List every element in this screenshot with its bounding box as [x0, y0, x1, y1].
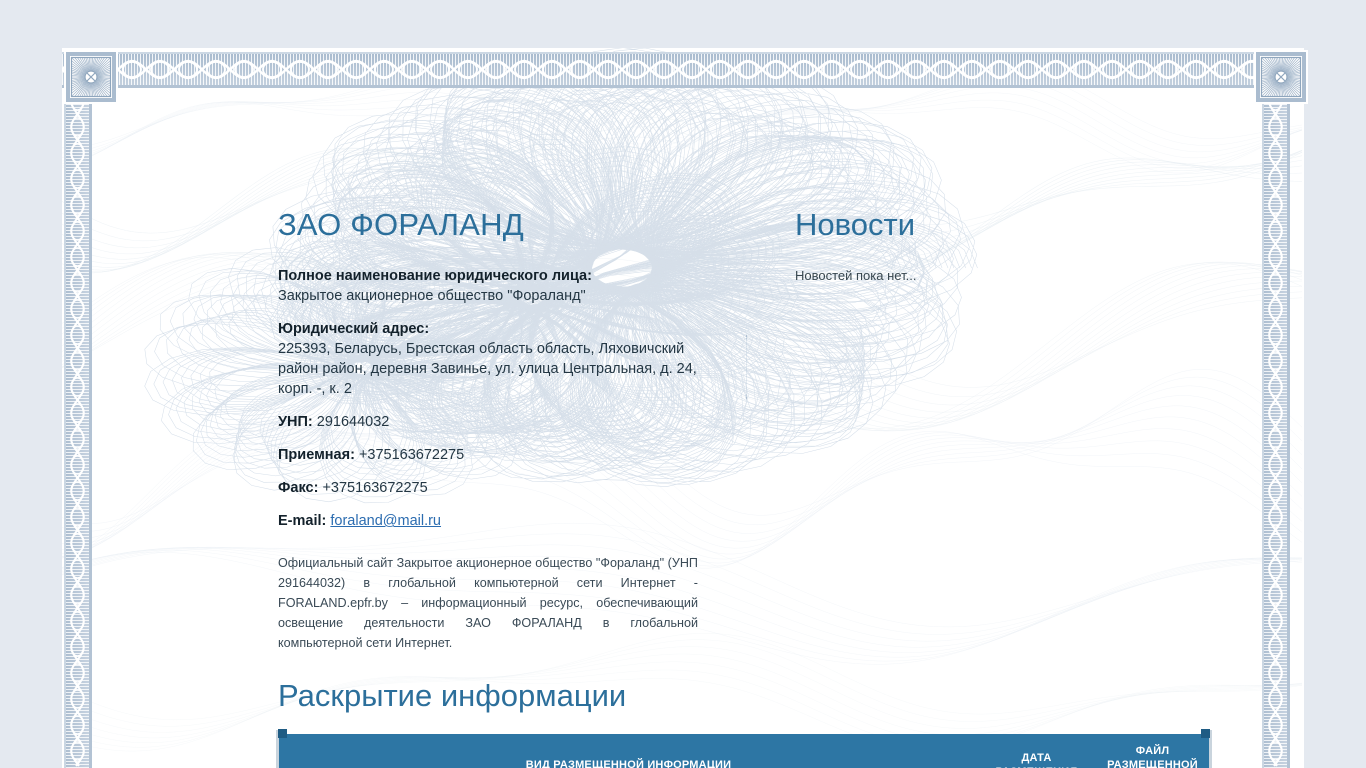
column-header-file: ФАЙЛ РАЗМЕЩЕННОЙ ИНФОРМАЦИИ: [1095, 734, 1211, 768]
unp-block: УНП: 291644032: [278, 412, 698, 432]
full-name-block: Полное наименование юридического лица: З…: [278, 266, 698, 306]
fax-value: +375163672275: [322, 480, 427, 496]
email-label: E-mail:: [278, 513, 326, 529]
news-column: Новости Новостей пока нет...: [795, 208, 1215, 283]
ornamental-border-right: [1262, 88, 1290, 768]
page-title: ЗАО ФОРАЛАНД: [278, 208, 698, 242]
full-name-label: Полное наименование юридического лица:: [278, 266, 698, 286]
fax-block: Факс: +375163672275: [278, 478, 698, 498]
corner-medallion-top-left: [66, 52, 116, 102]
news-title: Новости: [795, 208, 1215, 242]
ornamental-border-left: [64, 88, 92, 768]
unp-label: УНП:: [278, 414, 313, 430]
certificate-sheet: ЗАО ФОРАЛАНД Полное наименование юридиче…: [62, 48, 1304, 768]
table-header-fold-right: [1201, 729, 1210, 738]
disclosure-table-wrapper: ВИД РАЗМЕЩЕННОЙ ИНФОРМАЦИИ ДАТА РАЗМЕЩЕН…: [278, 734, 1210, 768]
table-header-fold-left: [278, 729, 287, 738]
news-empty-message: Новостей пока нет...: [795, 268, 1215, 283]
full-name-value: Закрытое акционерное общество "Фораланд": [278, 286, 698, 306]
corner-medallion-top-right: [1256, 52, 1306, 102]
page-content: ЗАО ФОРАЛАНД Полное наименование юридиче…: [62, 48, 1304, 768]
reception-value: +375163672275: [359, 447, 464, 463]
table-header-row: ВИД РАЗМЕЩЕННОЙ ИНФОРМАЦИИ ДАТА РАЗМЕЩЕН…: [279, 734, 1211, 768]
address-label: Юридический адрес:: [278, 319, 698, 339]
site-description: Официальный сайт Закрытое акционерное об…: [278, 553, 698, 653]
email-block: E-mail: foraland@mail.ru: [278, 511, 698, 531]
email-link[interactable]: foraland@mail.ru: [330, 513, 441, 529]
column-header-kind: ВИД РАЗМЕЩЕННОЙ ИНФОРМАЦИИ: [279, 734, 979, 768]
column-header-date: ДАТА РАЗМЕЩЕНИЯ: [979, 734, 1095, 768]
disclosure-table-head: ВИД РАЗМЕЩЕННОЙ ИНФОРМАЦИИ ДАТА РАЗМЕЩЕН…: [279, 734, 1211, 768]
ornamental-border-top: [62, 52, 1304, 88]
certificate-page: ЗАО ФОРАЛАНД Полное наименование юридиче…: [0, 0, 1366, 768]
unp-value: 291644032: [317, 414, 390, 430]
address-value: 225393, Беларусь, Брестская область обла…: [278, 339, 698, 399]
reception-block: Приемная: +375163672275: [278, 445, 698, 465]
disclosure-table: ВИД РАЗМЕЩЕННОЙ ИНФОРМАЦИИ ДАТА РАЗМЕЩЕН…: [278, 734, 1211, 768]
company-info-column: ЗАО ФОРАЛАНД Полное наименование юридиче…: [278, 208, 698, 653]
reception-label: Приемная:: [278, 447, 355, 463]
fax-label: Факс:: [278, 480, 318, 496]
disclosure-section-title: Раскрытие информации: [278, 678, 626, 714]
address-block: Юридический адрес: 225393, Беларусь, Бре…: [278, 319, 698, 399]
